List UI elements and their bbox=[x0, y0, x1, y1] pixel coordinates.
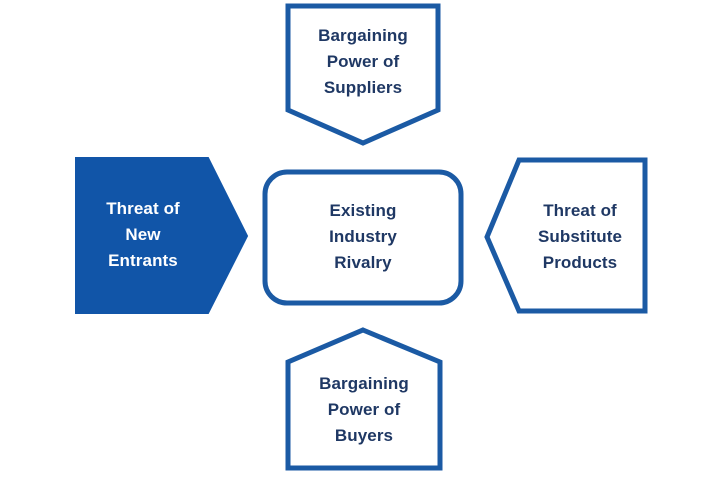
buyers-shape[interactable] bbox=[288, 330, 440, 468]
porters-five-forces-diagram: Bargaining Power of Suppliers Threat of … bbox=[0, 0, 720, 478]
substitutes-shape[interactable] bbox=[487, 160, 645, 311]
suppliers-shape[interactable] bbox=[288, 6, 438, 143]
rivalry-shape[interactable] bbox=[265, 172, 461, 303]
five-forces-shapes bbox=[0, 0, 720, 478]
new-entrants-shape[interactable] bbox=[76, 158, 247, 313]
